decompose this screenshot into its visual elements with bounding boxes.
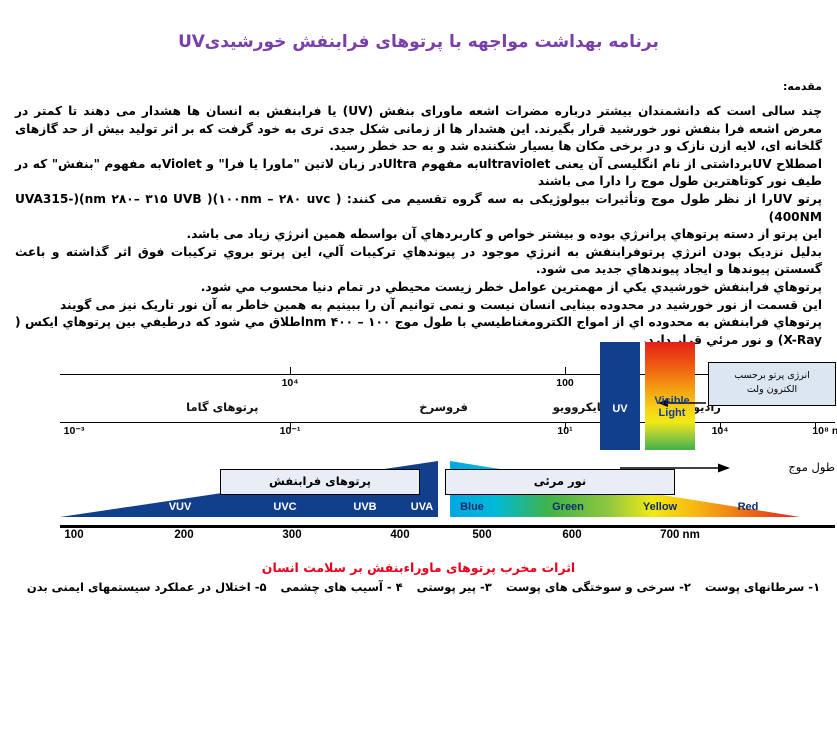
paragraph-7: این قسمت از نور خورشید در محدوده بینایی … xyxy=(15,297,822,315)
spectrum-wedge: پرتوهای فرابنفش نور مرئی VUV UVC UVB UVA… xyxy=(60,451,835,525)
paragraph-2: اصطلاح UVبرداشتی از نام انگلیسی آن یعنی … xyxy=(15,156,822,191)
region-label-gamma: پرتوهای گاما xyxy=(186,400,258,414)
list-item: ۳- پیر پوستی xyxy=(417,580,492,594)
band-label-green: Green xyxy=(552,501,584,513)
effects-heading: اثرات مخرب پرتوهای ماوراءبنفش بر سلامت ا… xyxy=(0,560,837,575)
nm-tick-300: 300 xyxy=(282,529,301,541)
list-item: ۵- اختلال در عملکرد سیستمهای ایمنی بدن xyxy=(27,580,267,594)
nm-tick-600: 600 xyxy=(562,529,581,541)
visible-band-label: Visible Light xyxy=(643,395,701,419)
wavelength-tick-label: 10¹ xyxy=(557,425,572,437)
nm-tick-500: 500 xyxy=(472,529,491,541)
wavelength-tick-label: 10⁸ nm xyxy=(812,425,837,437)
uv-visible-divider xyxy=(640,342,645,450)
visible-band-label-line1: Visible xyxy=(643,395,701,407)
nm-tick-400: 400 xyxy=(390,529,409,541)
band-label-red: Red xyxy=(738,501,759,513)
band-label-vuv: VUV xyxy=(169,501,192,513)
paragraph-3: پرتو UVرا از نظر طول موج وتأثیرات بیولوژ… xyxy=(15,191,822,226)
energy-info-box: انرژی پرتو برحسب الکترون ولت xyxy=(708,362,836,406)
region-label-infrared: فروسرخ xyxy=(419,400,468,414)
band-label-blue: Blue xyxy=(460,501,484,513)
wavelength-tick-label: 10⁻¹ xyxy=(280,425,301,437)
spectrum-diagram: 10⁴ 100 1 1/100 10⁻⁵ 10⁻³ 10⁻¹ 10¹ 10⁴ 1… xyxy=(60,348,835,548)
nm-scale-labels: 100 200 300 400 500 600 700 nm xyxy=(60,529,835,545)
page-title: برنامه بهداشت مواجهه با پرتوهای فرابنفش … xyxy=(0,32,837,52)
nm-tick-700: 700 nm xyxy=(660,529,700,541)
band-label-uvc: UVC xyxy=(273,501,296,513)
list-item: ۲- سرخی و سوختگی های پوست xyxy=(506,580,691,594)
wavelength-tick-label: 10⁻³ xyxy=(64,425,85,437)
energy-info-line2: الکترون ولت xyxy=(709,383,835,397)
uv-band-block xyxy=(600,342,640,450)
energy-info-line1: انرژی پرتو برحسب xyxy=(709,369,835,383)
paragraph-6: پرتوهاي فرابنفش خورشیدي یکي از مهمترین ع… xyxy=(15,279,822,297)
energy-tick-label: 10⁴ xyxy=(282,377,299,389)
nm-tick-100: 100 xyxy=(64,529,83,541)
nm-scale-bar xyxy=(60,525,835,528)
paragraph-8: پرتوهاي فرابنفش به محدوده اي از امواج ال… xyxy=(15,314,822,349)
paragraph-5: بدلیل نزدیک بودن انرژي پرتوفرابنفش به ان… xyxy=(15,244,822,279)
document-body: چند سالی است که دانشمندان بیشتر درباره م… xyxy=(15,103,822,349)
energy-tick-label: 100 xyxy=(556,377,574,389)
paragraph-1: چند سالی است که دانشمندان بیشتر درباره م… xyxy=(15,103,822,156)
band-label-yellow: Yellow xyxy=(643,501,677,513)
energy-axis-tick xyxy=(290,367,291,374)
effects-list: ۱- سرطانهای پوست ۲- سرخی و سوختگی های پو… xyxy=(15,580,822,594)
nm-tick-200: 200 xyxy=(174,529,193,541)
callout-uv-rays: پرتوهای فرابنفش xyxy=(220,469,420,495)
callout-visible-light: نور مرئی xyxy=(445,469,675,495)
wavelength-axis-line xyxy=(60,422,835,423)
band-label-uva: UVA xyxy=(411,501,433,513)
wavelength-tick-label: 10⁴ xyxy=(712,425,729,437)
uv-band-label: UV xyxy=(600,403,640,415)
wedge-divider xyxy=(439,461,444,515)
band-label-uvb: UVB xyxy=(353,501,376,513)
list-item: ۱- سرطانهای پوست xyxy=(705,580,820,594)
visible-band-label-line2: Light xyxy=(643,407,701,419)
intro-label: مقدمه: xyxy=(783,80,822,93)
energy-axis-tick xyxy=(565,367,566,374)
list-item: ۴ - آسیب های چشمی xyxy=(281,580,403,594)
paragraph-4: این پرتو از دسته پرتوهاي پرانرژي بوده و … xyxy=(15,226,822,244)
